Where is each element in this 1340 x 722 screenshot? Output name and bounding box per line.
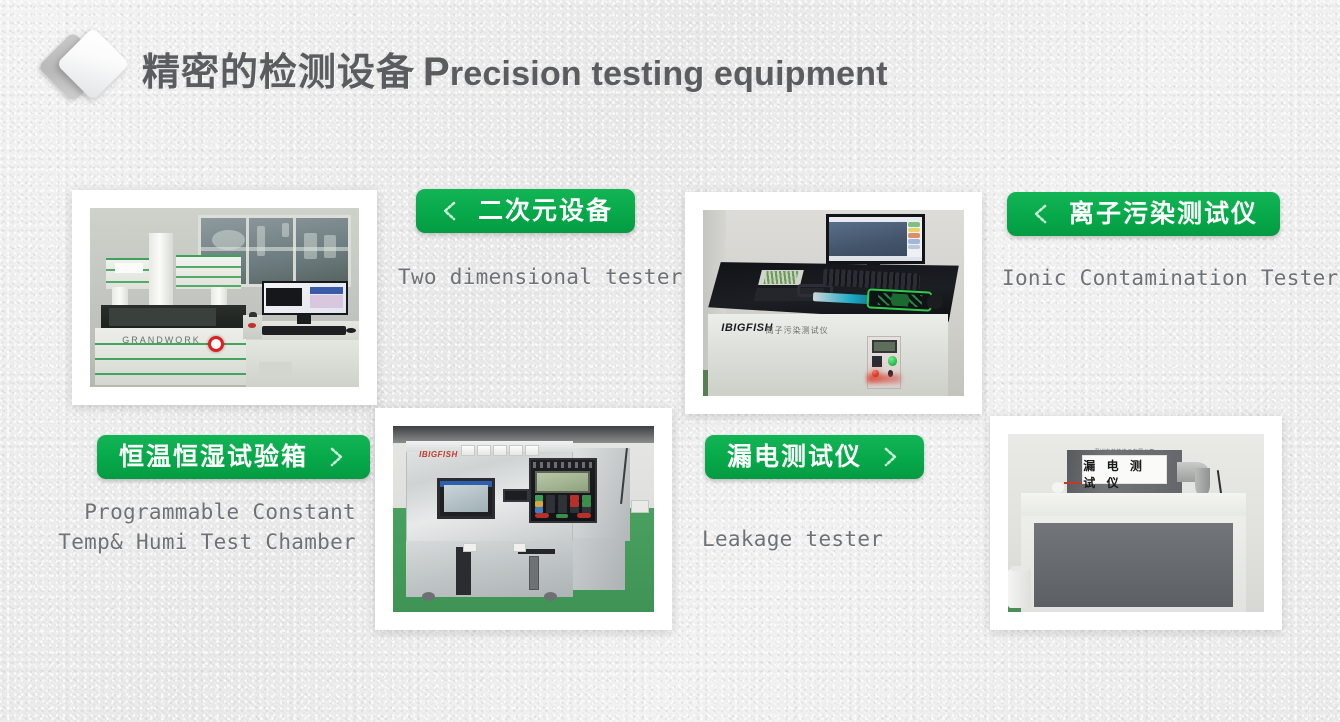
chevron-double-left-icon — [1029, 201, 1053, 227]
photo-brand-ibigfish: IBIGFISH — [419, 450, 458, 459]
label-two-dimensional-tester[interactable]: 二次元设备 — [416, 189, 635, 233]
label-ionic-contamination-tester[interactable]: 离子污染测试仪 — [1007, 192, 1280, 236]
page-header: 精密的检测设备Precision testing equipment — [44, 24, 888, 112]
photo-image: IBIGFISH — [393, 426, 654, 612]
double-diamond-icon — [44, 26, 128, 110]
label-text: 二次元设备 — [478, 199, 613, 224]
caption-constant-temp-humi-chamber: Programmable Constant Temp& Humi Test Ch… — [34, 497, 356, 558]
label-text: 离子污染测试仪 — [1069, 202, 1258, 227]
page-title-cn: 精密的检测设备 — [142, 52, 415, 94]
chevron-double-right-icon — [878, 444, 902, 470]
label-constant-temp-humi-chamber[interactable]: 恒温恒湿试验箱 — [97, 435, 370, 479]
chevron-double-right-icon — [324, 444, 348, 470]
photo-image: 深圳市某某电子有限公司 漏 电 测 试 仪 — [1008, 434, 1264, 612]
page-title: 精密的检测设备Precision testing equipment — [142, 41, 888, 96]
caption-leakage-tester: Leakage tester — [702, 524, 883, 554]
photo-device-label: 深圳市某某电子有限公司 漏 电 测 试 仪 — [1082, 455, 1166, 483]
page-title-en: Precision testing equipment — [423, 55, 888, 93]
photo-image: GRANDWORK — [90, 208, 359, 387]
label-text: 恒温恒湿试验箱 — [119, 445, 308, 470]
label-leakage-tester[interactable]: 漏电测试仪 — [705, 435, 924, 479]
label-text: 漏电测试仪 — [727, 445, 862, 470]
caption-ionic-contamination-tester: Ionic Contamination Tester — [1002, 263, 1339, 293]
photo-brand-cn: 离子污染测试仪 — [766, 325, 829, 336]
photo-leakage-tester: 深圳市某某电子有限公司 漏 电 测 试 仪 — [990, 416, 1282, 630]
photo-ionic-contamination-tester: IBIGFISH 离子污染测试仪 — [685, 192, 982, 414]
caption-two-dimensional-tester: Two dimensional tester — [398, 262, 683, 292]
photo-image: IBIGFISH 离子污染测试仪 — [703, 210, 964, 396]
photo-brand-grandwork: GRANDWORK — [122, 335, 201, 345]
chevron-double-left-icon — [438, 198, 462, 224]
photo-two-dimensional-tester: GRANDWORK — [72, 190, 377, 405]
photo-device-label-sub: 深圳市某某电子有限公司 — [1094, 448, 1155, 455]
photo-device-label-main: 漏 电 测 试 仪 — [1083, 457, 1165, 491]
photo-constant-temp-humi-chamber: IBIGFISH — [375, 408, 672, 630]
